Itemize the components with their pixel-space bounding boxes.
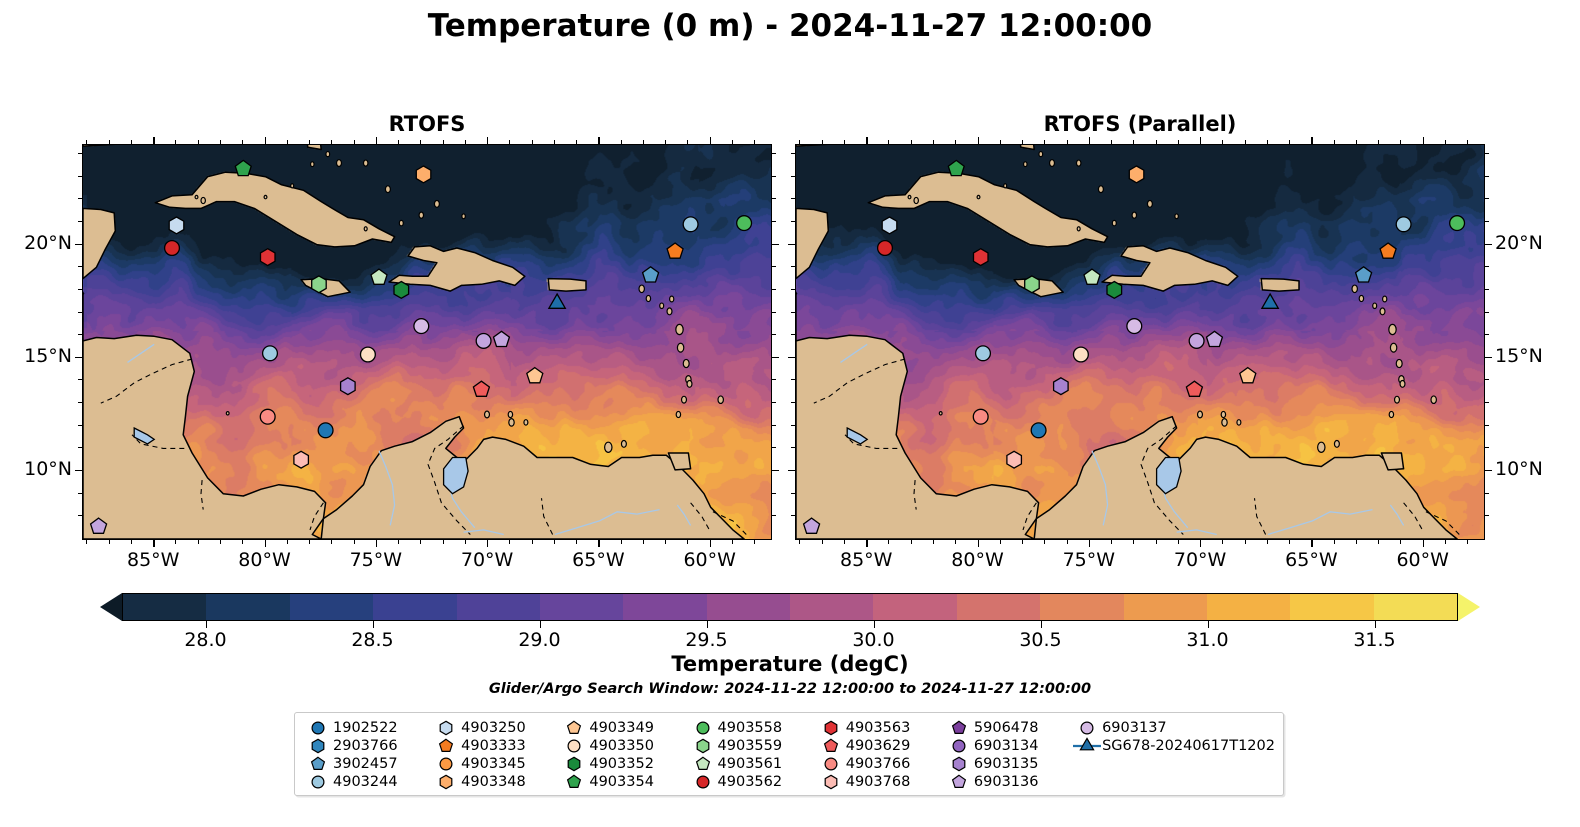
x-tick-minor <box>844 540 845 544</box>
x-tick-minor-top <box>911 140 912 144</box>
x-tick-label: 65°W <box>1285 549 1337 571</box>
y-tick-label: 15°N <box>1495 345 1543 367</box>
legend-marker-icon <box>944 737 974 755</box>
x-tick-minor <box>754 540 755 544</box>
x-tick-minor-top <box>933 140 934 144</box>
y-tick-minor <box>772 176 776 177</box>
circle-swatch-icon <box>559 737 589 755</box>
legend-item[interactable]: 5906478 <box>944 719 1072 737</box>
float-marker-4903250[interactable] <box>169 217 184 234</box>
legend-item[interactable]: 4903350 <box>559 737 687 755</box>
x-tick-minor-top <box>1356 140 1357 144</box>
island-30 <box>914 197 918 203</box>
island-2 <box>660 303 664 308</box>
legend-marker-icon <box>559 719 589 737</box>
island-32 <box>291 184 294 188</box>
float-marker-3902457[interactable] <box>643 267 659 282</box>
island-15 <box>485 411 490 418</box>
x-tick-minor-top <box>799 140 800 144</box>
legend-item[interactable]: 4903563 <box>816 719 944 737</box>
legend-item[interactable]: 3902457 <box>303 755 431 773</box>
island-5 <box>1389 324 1396 334</box>
float-marker-4903349[interactable] <box>1240 368 1256 383</box>
y-tick-minor <box>1485 515 1489 516</box>
legend-label: 4903352 <box>589 756 654 772</box>
colorbar-segment <box>1290 594 1373 620</box>
y-tick-minor <box>1485 289 1489 290</box>
float-marker-4903629[interactable] <box>1186 381 1202 396</box>
coastline-yucatan <box>83 208 115 278</box>
island-10 <box>682 396 687 403</box>
float-marker-6903137[interactable] <box>414 319 429 334</box>
x-tick-minor-top <box>888 140 889 144</box>
x-tick-minor <box>822 540 823 544</box>
colorbar-extend-max <box>1458 593 1480 621</box>
legend-item[interactable]: 4903561 <box>688 755 816 773</box>
island-19 <box>226 412 229 415</box>
legend-item[interactable]: 4903559 <box>688 737 816 755</box>
y-tick-major <box>1485 470 1492 471</box>
legend-item[interactable]: 1902522 <box>303 719 431 737</box>
legend-item[interactable]: 4903352 <box>559 755 687 773</box>
float-marker-4903562[interactable] <box>165 241 180 256</box>
x-tick-minor-top <box>1289 140 1290 144</box>
colorbar-segment <box>290 594 373 620</box>
island-6 <box>1390 343 1396 352</box>
y-tick-minor <box>791 289 795 290</box>
island-14 <box>508 411 512 417</box>
float-marker-4903562[interactable] <box>878 241 893 256</box>
island-25 <box>1050 160 1055 167</box>
y-tick-minor <box>78 493 82 494</box>
x-tick-minor <box>1400 540 1401 544</box>
float-marker-1902522[interactable] <box>1031 423 1046 438</box>
float-marker-4903348[interactable] <box>416 166 431 183</box>
x-tick-major <box>710 540 711 547</box>
colorbar-tick <box>1041 621 1042 628</box>
x-tick-minor <box>220 540 221 544</box>
float-marker-4903563[interactable] <box>974 249 989 266</box>
legend-marker-icon <box>944 719 974 737</box>
x-tick-minor-top <box>198 140 199 144</box>
x-tick-minor-top <box>554 140 555 144</box>
x-tick-major-top <box>153 137 154 144</box>
island-31 <box>195 195 198 198</box>
island-3 <box>1380 308 1385 315</box>
legend-item[interactable]: 6903136 <box>944 773 1072 791</box>
legend-label: 4903561 <box>718 756 783 772</box>
x-tick-minor <box>643 540 644 544</box>
coastline-florida <box>796 145 976 146</box>
legend-marker-icon <box>431 773 461 791</box>
coastline-puertorico <box>1261 279 1299 292</box>
float-marker-4903629[interactable] <box>473 381 489 396</box>
x-tick-minor <box>86 540 87 544</box>
float-marker-4903561[interactable] <box>1084 269 1100 284</box>
x-tick-minor <box>465 540 466 544</box>
legend-item[interactable]: 4903562 <box>688 773 816 791</box>
x-tick-major <box>487 540 488 547</box>
y-tick-minor <box>78 379 82 380</box>
legend-label: 6903134 <box>974 738 1039 754</box>
float-marker-4903350[interactable] <box>1074 347 1089 362</box>
x-tick-minor-top <box>955 140 956 144</box>
colorbar-segment <box>1207 594 1290 620</box>
island-7 <box>683 359 689 367</box>
float-marker-4903766[interactable] <box>973 409 988 424</box>
map-panel-rtofs[interactable] <box>82 144 772 540</box>
y-tick-major <box>75 357 82 358</box>
legend-item[interactable]: 2903766 <box>303 737 431 755</box>
legend-grid: 1902522290376639024574903244490325049033… <box>303 719 1275 791</box>
colorbar-tick <box>1208 621 1209 628</box>
island-6 <box>677 343 683 352</box>
y-tick-minor <box>772 402 776 403</box>
float-marker-4903352[interactable] <box>394 282 409 299</box>
y-tick-minor <box>791 176 795 177</box>
legend-marker-icon <box>688 755 718 773</box>
y-tick-label: 20°N <box>24 232 72 254</box>
island-31 <box>908 195 911 198</box>
coastline-cuba <box>868 172 1107 247</box>
float-marker-4903559[interactable] <box>1025 276 1040 293</box>
colorbar-tick <box>874 621 875 628</box>
x-tick-label: 75°W <box>350 549 402 571</box>
x-tick-minor-top <box>1378 140 1379 144</box>
legend-label: 4903345 <box>461 756 526 772</box>
x-tick-minor-top <box>465 140 466 144</box>
legend-item[interactable]: 6903135 <box>944 755 1072 773</box>
x-tick-major-top <box>1423 137 1424 144</box>
island-13 <box>1222 419 1227 426</box>
float-marker-4903244[interactable] <box>1396 217 1411 232</box>
coastline-samerica <box>1034 417 1457 539</box>
float-marker-4903333[interactable] <box>1380 243 1396 258</box>
pentagon-swatch-icon <box>559 773 589 791</box>
y-tick-major <box>75 470 82 471</box>
float-marker-4903561[interactable] <box>371 269 387 284</box>
colorbar: 28.028.529.029.530.030.531.031.5 <box>100 593 1480 621</box>
legend-marker-icon <box>688 719 718 737</box>
circle-swatch-icon <box>944 737 974 755</box>
x-tick-minor <box>888 540 889 544</box>
float-marker-6903136[interactable] <box>494 331 510 346</box>
float-marker-6903135[interactable] <box>1054 378 1069 395</box>
colorbar-segment <box>123 594 206 620</box>
island-17 <box>605 442 612 452</box>
y-tick-minor <box>1485 379 1489 380</box>
coastline-hispaniola <box>1102 246 1238 291</box>
legend-item[interactable]: 6903134 <box>944 737 1072 755</box>
x-tick-minor-top <box>1334 140 1335 144</box>
y-tick-minor <box>1485 425 1489 426</box>
x-tick-minor-top <box>687 140 688 144</box>
x-tick-label: 80°W <box>238 549 290 571</box>
x-tick-minor-top <box>1044 140 1045 144</box>
float-marker-4903558[interactable] <box>737 216 752 231</box>
circle-swatch-icon <box>688 719 718 737</box>
x-tick-major <box>598 540 599 547</box>
float-marker-4903350[interactable] <box>361 347 376 362</box>
legend-item[interactable]: 4903354 <box>559 773 687 791</box>
y-tick-label: 10°N <box>1495 458 1543 480</box>
x-tick-major <box>866 540 867 547</box>
float-marker-1902522[interactable] <box>318 423 333 438</box>
island-1 <box>1359 295 1363 301</box>
y-tick-minor <box>78 312 82 313</box>
circle-swatch-icon <box>816 755 846 773</box>
float-marker-4903768[interactable] <box>294 451 309 468</box>
legend-label: 4903350 <box>589 738 654 754</box>
x-tick-minor-top <box>509 140 510 144</box>
y-tick-major <box>772 470 779 471</box>
marker-legend: 1902522290376639024574903244490325049033… <box>294 712 1284 796</box>
legend-marker-icon <box>944 755 974 773</box>
x-tick-minor <box>955 540 956 544</box>
legend-item[interactable]: 4903348 <box>431 773 559 791</box>
float-marker-4903354[interactable] <box>235 160 251 175</box>
legend-item[interactable]: 4903345 <box>431 755 559 773</box>
colorbar-segment <box>873 594 956 620</box>
y-tick-minor <box>78 198 82 199</box>
island-20 <box>364 227 367 231</box>
y-tick-minor <box>78 515 82 516</box>
legend-item[interactable]: 6903137 <box>1072 719 1275 737</box>
hexagon-swatch-icon <box>431 773 461 791</box>
island-21 <box>1147 201 1152 208</box>
y-tick-minor <box>791 266 795 267</box>
x-tick-minor <box>354 540 355 544</box>
float-marker-4903349[interactable] <box>527 368 543 383</box>
y-tick-minor <box>791 379 795 380</box>
x-tick-minor <box>911 540 912 544</box>
x-tick-minor <box>1467 540 1468 544</box>
x-tick-major <box>265 540 266 547</box>
float-marker-4903352[interactable] <box>1107 282 1122 299</box>
legend-item[interactable]: 4903558 <box>688 719 816 737</box>
legend-item[interactable]: 4903244 <box>303 773 431 791</box>
x-tick-minor-top <box>1400 140 1401 144</box>
x-tick-minor <box>1178 540 1179 544</box>
legend-label: 4903766 <box>846 756 911 772</box>
x-tick-minor-top <box>621 140 622 144</box>
legend-label: 2903766 <box>333 738 398 754</box>
x-tick-minor <box>198 540 199 544</box>
colorbar-segment <box>457 594 540 620</box>
legend-item[interactable]: 4903333 <box>431 737 559 755</box>
island-28 <box>399 220 403 225</box>
x-tick-minor-top <box>109 140 110 144</box>
y-tick-minor <box>772 221 776 222</box>
island-23 <box>462 214 465 219</box>
float-marker-4903768[interactable] <box>1007 451 1022 468</box>
island-28 <box>1112 220 1116 225</box>
x-tick-minor-top <box>131 140 132 144</box>
legend-item[interactable]: 4903250 <box>431 719 559 737</box>
float-marker-6903135[interactable] <box>341 378 356 395</box>
coastline-andros <box>306 145 322 150</box>
island-5 <box>676 324 683 334</box>
legend-marker-icon <box>816 737 846 755</box>
y-tick-minor <box>772 493 776 494</box>
coastline-camerica <box>83 292 326 539</box>
float-marker-4903766[interactable] <box>260 409 275 424</box>
y-tick-minor <box>791 425 795 426</box>
colorbar-tick <box>206 621 207 628</box>
island-32 <box>1004 184 1007 188</box>
island-30 <box>201 197 205 203</box>
x-tick-minor <box>554 540 555 544</box>
y-tick-minor <box>1485 493 1489 494</box>
island-22 <box>1132 212 1136 218</box>
y-tick-minor <box>772 289 776 290</box>
circle-swatch-icon <box>688 773 718 791</box>
y-tick-minor <box>78 176 82 177</box>
colorbar-segment <box>623 594 706 620</box>
x-tick-minor <box>687 540 688 544</box>
legend-marker-icon <box>816 719 846 737</box>
x-tick-label: 80°W <box>951 549 1003 571</box>
float-marker-4903250[interactable] <box>882 217 897 234</box>
y-tick-major <box>788 470 795 471</box>
x-tick-minor <box>109 540 110 544</box>
legend-label: 1902522 <box>333 720 398 736</box>
x-tick-minor <box>509 540 510 544</box>
x-tick-minor-top <box>643 140 644 144</box>
x-tick-label: 60°W <box>1396 549 1448 571</box>
legend-item[interactable]: 4903629 <box>816 737 944 755</box>
float-marker-3902457[interactable] <box>1356 267 1372 282</box>
island-11 <box>676 411 680 417</box>
x-tick-minor-top <box>1245 140 1246 144</box>
float-marker-6903137[interactable] <box>1127 319 1142 334</box>
float-marker-4903559[interactable] <box>312 276 327 293</box>
x-tick-minor-top <box>220 140 221 144</box>
y-tick-major <box>772 357 779 358</box>
float-marker-4903333[interactable] <box>667 243 683 258</box>
legend-item[interactable]: 4903349 <box>559 719 687 737</box>
colorbar-tick-label: 30.5 <box>1019 629 1061 651</box>
colorbar-tick-label: 31.5 <box>1353 629 1395 651</box>
y-tick-minor <box>772 312 776 313</box>
float-marker-6903134[interactable] <box>1189 334 1204 349</box>
float-marker-6903136[interactable] <box>1207 331 1223 346</box>
x-tick-minor-top <box>1467 140 1468 144</box>
x-tick-minor <box>1267 540 1268 544</box>
legend-item[interactable]: 4903766 <box>816 755 944 773</box>
float-marker-4903563[interactable] <box>261 249 276 266</box>
x-tick-major <box>1200 540 1201 547</box>
island-4 <box>670 296 674 302</box>
glider-marker-SG678-20240617T1202[interactable] <box>549 294 565 308</box>
x-tick-minor-top <box>754 140 755 144</box>
float-marker-4903558[interactable] <box>1450 216 1465 231</box>
legend-item[interactable]: SG678-20240617T1202 <box>1072 737 1275 755</box>
x-tick-minor <box>287 540 288 544</box>
x-tick-minor-top <box>1022 140 1023 144</box>
legend-item[interactable]: 4903768 <box>816 773 944 791</box>
legend-marker-icon <box>688 773 718 791</box>
x-tick-minor <box>175 540 176 544</box>
island-21 <box>434 201 439 208</box>
y-tick-minor <box>791 312 795 313</box>
x-tick-minor-top <box>532 140 533 144</box>
glider-marker-SG678-20240617T1202[interactable] <box>1262 294 1278 308</box>
pentagon-swatch-icon <box>944 773 974 791</box>
legend-label: 4903348 <box>461 774 526 790</box>
legend-marker-icon <box>688 737 718 755</box>
coastline-yucatan <box>796 208 828 278</box>
float-marker-4903354[interactable] <box>948 160 964 175</box>
search-window-text: Glider/Argo Search Window: 2024-11-22 12… <box>0 681 1580 697</box>
island-25 <box>337 160 342 167</box>
x-tick-minor <box>1445 540 1446 544</box>
y-tick-minor <box>791 334 795 335</box>
island-23 <box>1175 214 1178 219</box>
legend-marker-icon <box>303 755 333 773</box>
x-tick-major-top <box>978 137 979 144</box>
y-tick-minor <box>772 425 776 426</box>
legend-marker-icon <box>303 737 333 755</box>
circle-swatch-icon <box>431 755 461 773</box>
x-tick-major-top <box>866 137 867 144</box>
colorbar-segment <box>1124 594 1207 620</box>
colorbar-tick-label: 28.5 <box>351 629 393 651</box>
x-tick-major <box>978 540 979 547</box>
legend-label: 4903354 <box>589 774 654 790</box>
float-marker-4903244b[interactable] <box>263 346 278 361</box>
x-tick-major-top <box>1200 137 1201 144</box>
x-tick-label: 85°W <box>840 549 892 571</box>
y-tick-minor <box>78 153 82 154</box>
island-2 <box>1373 303 1377 308</box>
legend-label: 4903563 <box>846 720 911 736</box>
legend-marker-icon <box>1072 719 1102 737</box>
y-tick-minor <box>1485 221 1489 222</box>
x-tick-major-top <box>1089 137 1090 144</box>
float-marker-4903244[interactable] <box>683 217 698 232</box>
x-tick-minor-top <box>443 140 444 144</box>
pentagon-swatch-icon <box>303 755 333 773</box>
hexagon-swatch-icon <box>559 755 589 773</box>
legend-label: 4903559 <box>718 738 783 754</box>
x-tick-minor-top <box>175 140 176 144</box>
x-tick-minor-top <box>732 140 733 144</box>
legend-marker-icon <box>431 755 461 773</box>
legend-marker-icon <box>816 773 846 791</box>
rtofs-parallel-vector-overlay <box>796 145 1485 539</box>
legend-marker-icon <box>816 755 846 773</box>
x-tick-major-top <box>265 137 266 144</box>
island-17 <box>1318 442 1325 452</box>
y-tick-major <box>788 244 795 245</box>
coastline-puertorico <box>548 279 586 292</box>
legend-label: 4903562 <box>718 774 783 790</box>
colorbar-segment <box>790 594 873 620</box>
y-tick-minor <box>78 266 82 267</box>
map-panel-rtofs-parallel[interactable] <box>795 144 1485 540</box>
colorbar-tick-label: 29.5 <box>685 629 727 651</box>
x-tick-minor-top <box>1445 140 1446 144</box>
x-tick-minor-top <box>287 140 288 144</box>
x-tick-minor <box>309 540 310 544</box>
float-marker-4903244b[interactable] <box>976 346 991 361</box>
x-tick-label: 75°W <box>1063 549 1115 571</box>
float-marker-4903348[interactable] <box>1129 166 1144 183</box>
colorbar-gradient <box>122 593 1458 621</box>
float-marker-6903134[interactable] <box>476 334 491 349</box>
y-tick-minor <box>1485 334 1489 335</box>
